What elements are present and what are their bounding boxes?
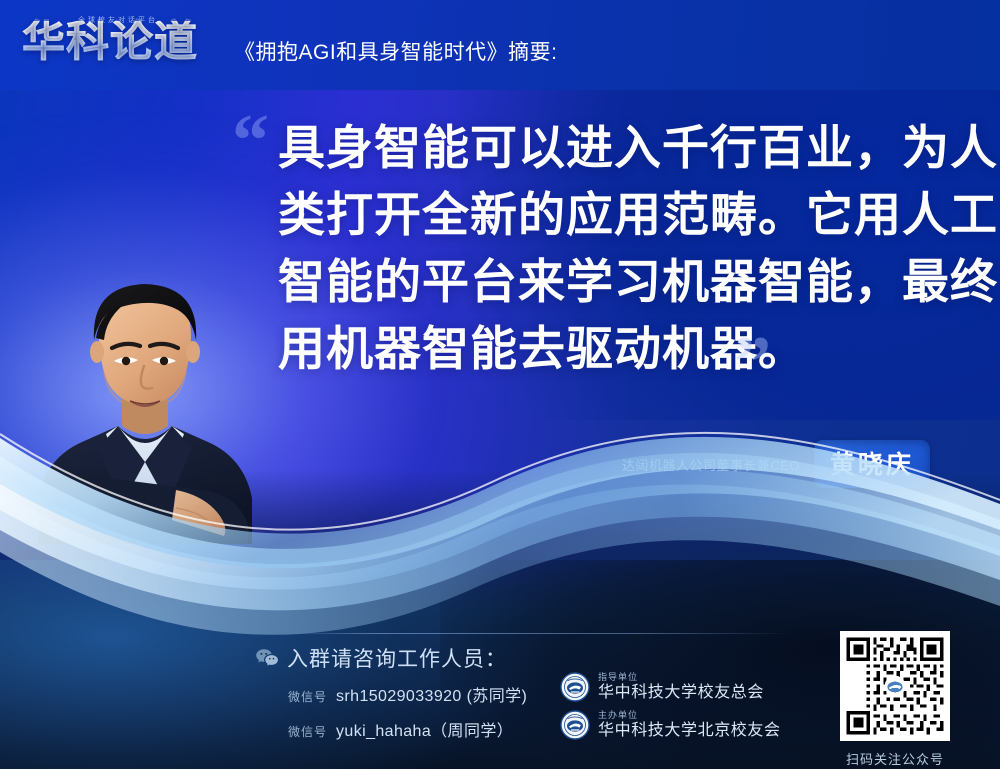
poster-canvas: 全球校友对话平台 华科论道 《拥抱AGI和具身智能时代》摘要: — [0, 0, 1000, 769]
organization-kind: 主办单位 — [598, 711, 781, 720]
logo-wordmark: 华科论道 — [22, 21, 198, 64]
wechat-label: 微信号 — [288, 723, 327, 740]
attribution: 达闼机器人公司董事长兼CEO 黄晓庆 — [600, 444, 930, 484]
organization-name: 华中科技大学校友总会 — [598, 685, 764, 701]
speaker-role: 达闼机器人公司董事长兼CEO — [622, 455, 800, 474]
speaker-portrait — [26, 276, 264, 544]
header: 全球校友对话平台 华科论道 《拥抱AGI和具身智能时代》摘要: — [0, 0, 1000, 90]
quote-close-mark: ” — [734, 326, 771, 400]
quote-line: 类打开全新的应用范畴。它用人工 — [278, 181, 938, 248]
organization-guide: 指导单位 华中科技大学校友总会 — [560, 672, 764, 702]
organization-kind: 指导单位 — [598, 673, 764, 682]
organization-name: 华中科技大学北京校友会 — [598, 723, 781, 739]
section-divider — [288, 633, 790, 634]
hust-seal-icon — [560, 710, 590, 740]
speaker-name: 黄晓庆 — [830, 451, 914, 479]
hust-seal-icon — [560, 672, 590, 702]
wechat-icon — [255, 648, 279, 668]
contact-row: 微信号 yuki_hahaha（周同学） — [288, 717, 513, 741]
quote-line: 智能的平台来学习机器智能，最终 — [278, 248, 938, 315]
wechat-id: srh15029033920 (苏同学) — [336, 682, 527, 706]
qr-code[interactable] — [840, 631, 950, 741]
quote-open-mark: “ — [232, 104, 269, 178]
qr-caption: 扫码关注公众号 — [840, 749, 950, 768]
wechat-id: yuki_hahaha（周同学） — [336, 717, 513, 741]
brand-logo[interactable]: 全球校友对话平台 华科论道 — [22, 13, 218, 77]
quote-line: 用机器智能去驱动机器。 — [278, 315, 938, 382]
wechat-label: 微信号 — [288, 688, 327, 705]
contact-heading: 入群请咨询工作人员： — [287, 643, 507, 673]
organization-host: 主办单位 华中科技大学北京校友会 — [560, 710, 781, 740]
page-title: 《拥抱AGI和具身智能时代》摘要: — [234, 24, 558, 66]
speaker-name-badge: 黄晓庆 — [814, 440, 930, 488]
quote-line: 具身智能可以进入千行百业，为人 — [278, 114, 938, 181]
quote-text: 具身智能可以进入千行百业，为人 类打开全新的应用范畴。它用人工 智能的平台来学习… — [278, 114, 938, 382]
contact-row: 微信号 srh15029033920 (苏同学) — [288, 682, 527, 706]
qr-section: 扫码关注公众号 — [840, 631, 950, 768]
